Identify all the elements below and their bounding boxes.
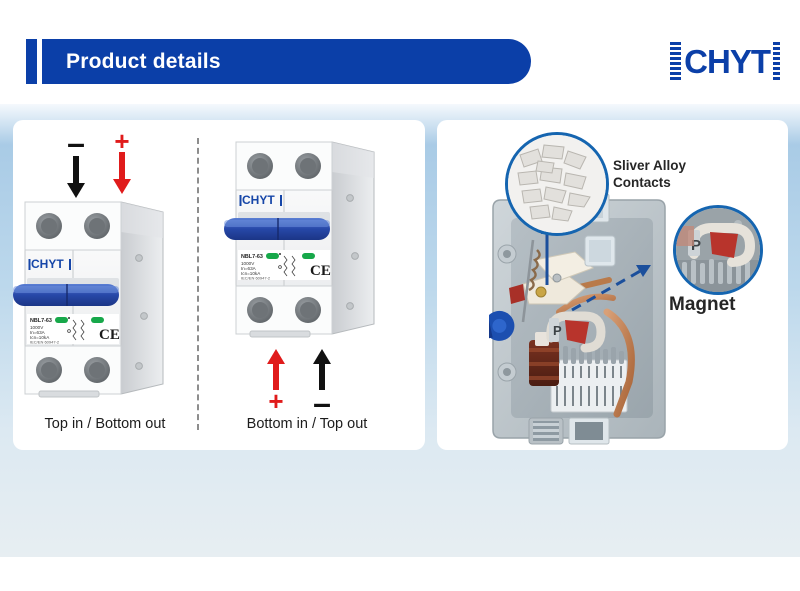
header: Product details CHYT [0,0,800,104]
plus-sign-label: + [268,392,283,410]
page-title: Product details [66,50,221,74]
svg-text:CHYT: CHYT [242,193,275,207]
logo-wordmark: CHYT [684,45,770,78]
svg-text:P: P [553,323,562,338]
callout-contacts-line2: Contacts [613,175,686,192]
footer-spacer [0,557,800,591]
brand-logo: CHYT [670,38,780,84]
svg-text:NBL7-63: NBL7-63 [30,318,52,324]
breaker-cutaway-image: P [489,192,709,447]
polarity-positive-bottom: + [253,348,299,414]
header-accent-tab [26,39,37,84]
callout-contacts-line1: Sliver Alloy [613,158,686,175]
logo-left-ticks-icon [670,42,681,80]
arrow-down-black-icon [65,154,87,200]
polarity-negative-top: – [53,132,99,200]
sliver-alloy-contacts-photo [505,132,609,236]
header-title-bar: Product details [42,39,531,84]
breaker-device-a-image: CHYT NBL7-63 1000V In=63A [11,198,195,398]
contacts-chips-illustration [508,135,606,233]
polarity-arrows-top: – + [53,132,145,200]
logo-right-ticks-icon [773,42,780,80]
callout-contacts-label: Sliver Alloy Contacts [613,158,686,192]
minus-sign-label: – [313,392,331,414]
polarity-negative-bottom: – [299,348,345,414]
breaker-device-b-image: CHYT NBL7-63 1000V In=63A Icn=10kA IEC/E… [219,138,409,338]
minus-sign-label: – [67,132,85,154]
polarity-arrows-bottom: + – [253,348,345,414]
card-divider [197,138,199,430]
slide-root: Product details CHYT – [0,0,800,591]
diagram-top-in-bottom-out: – + [13,120,197,420]
magnet-illustration: P [676,208,760,292]
polarity-positive-top: + [99,132,145,200]
non-polarity-card: – + [13,120,425,450]
content-band: – + [0,104,800,557]
svg-text:NBL7-63: NBL7-63 [241,254,263,260]
caption-bottom-in-top-out: Bottom in / Top out [207,416,407,432]
svg-text:CE: CE [99,327,120,343]
arrow-down-red-icon [111,150,133,196]
magnet-photo: P [673,205,763,295]
contacts-magnet-card: P [437,120,788,450]
diagram-bottom-in-top-out: CHYT NBL7-63 1000V In=63A Icn=10kA IEC/E… [213,120,413,420]
caption-top-in-bottom-out: Top in / Bottom out [13,416,197,432]
svg-text:CE: CE [310,263,331,279]
svg-text:IEC/EN 60947-2: IEC/EN 60947-2 [241,276,271,281]
svg-text:CHYT: CHYT [31,257,64,271]
plus-sign-label: + [114,132,129,150]
callout-magnet-label: Magnet [669,293,736,317]
svg-text:IEC/EN 60947-2: IEC/EN 60947-2 [30,340,60,345]
